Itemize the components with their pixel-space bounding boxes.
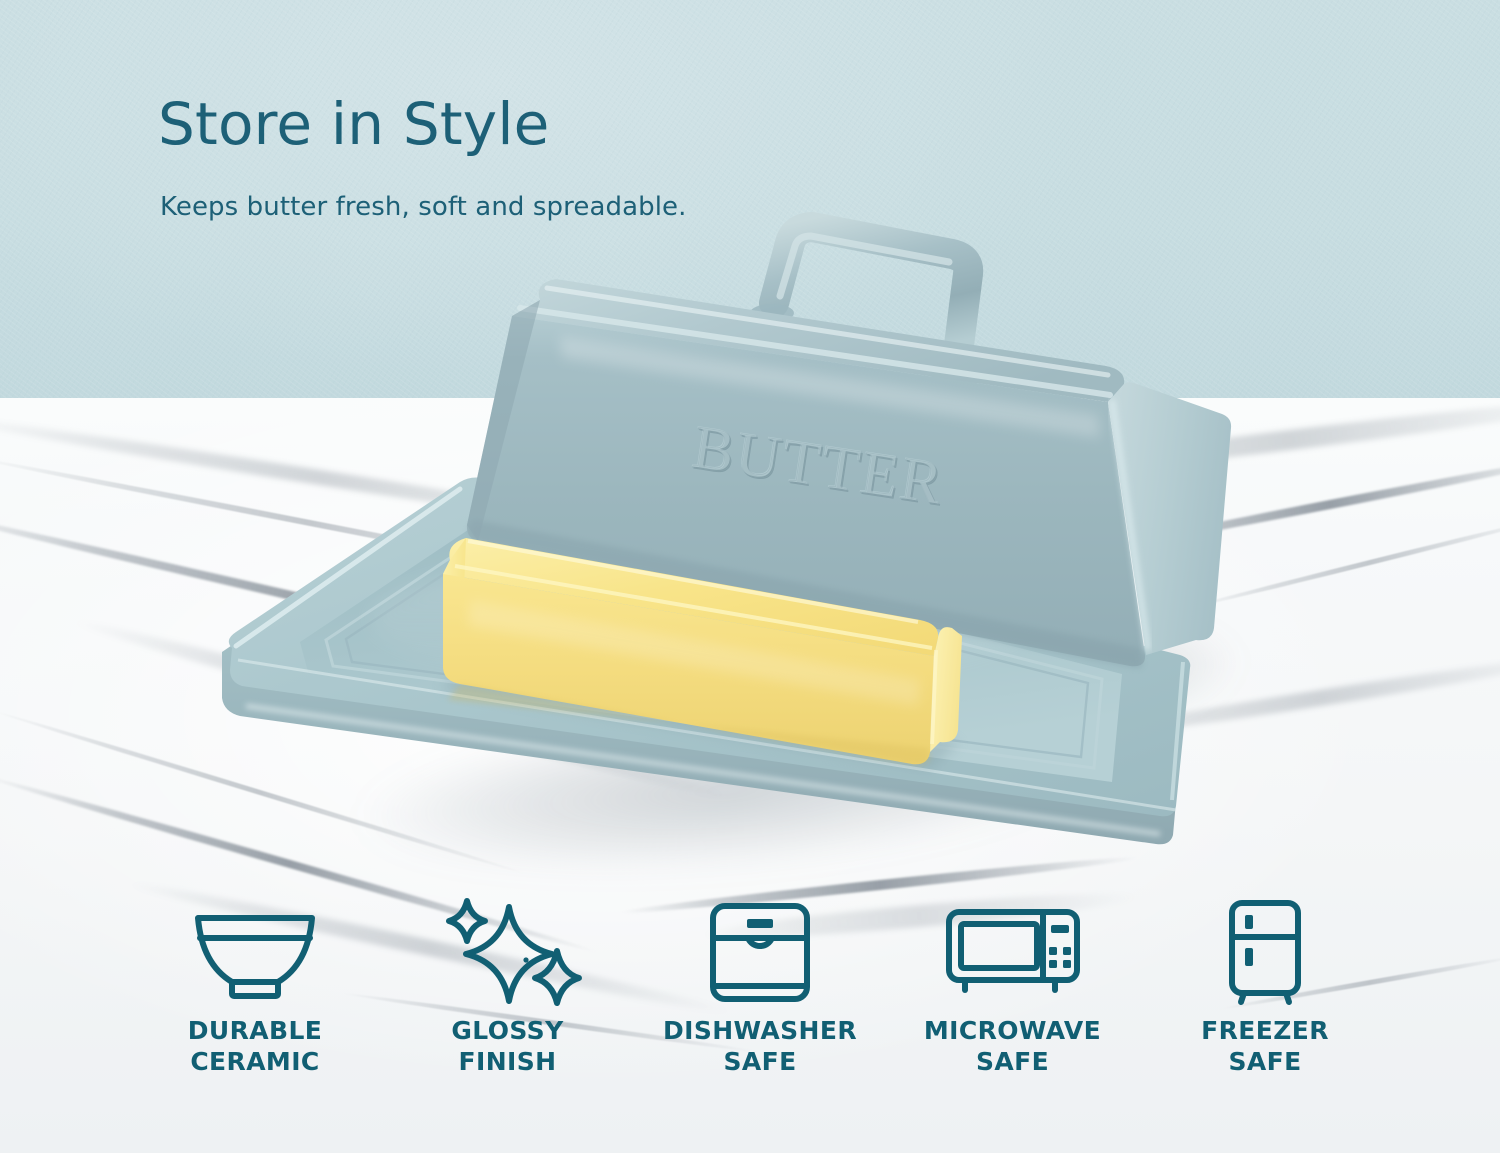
feature-label-line2: SAFE [924, 1047, 1101, 1078]
feature-label-line1: DISHWASHER [663, 1016, 857, 1047]
feature-label: FREEZER SAFE [1201, 1016, 1329, 1077]
feature-dishwasher-safe: DISHWASHER SAFE [655, 898, 865, 1077]
feature-freezer-safe: FREEZER SAFE [1160, 898, 1370, 1077]
feature-label: GLOSSY FINISH [451, 1016, 563, 1077]
dishwasher-icon [705, 898, 815, 1006]
feature-label: DURABLE CERAMIC [188, 1016, 323, 1077]
ceramic-bowl-icon [180, 898, 330, 1006]
feature-label-line1: MICROWAVE [924, 1016, 1101, 1047]
feature-durable-ceramic: DURABLE CERAMIC [150, 898, 360, 1077]
feature-label-line2: SAFE [663, 1047, 857, 1078]
feature-badges-row: DURABLE CERAMIC GLOSSY FIN [150, 898, 1370, 1118]
feature-label-line1: GLOSSY [451, 1016, 563, 1047]
microwave-icon [943, 898, 1083, 1006]
sparkle-icon [433, 898, 583, 1006]
feature-label-line2: CERAMIC [188, 1047, 323, 1078]
feature-label: DISHWASHER SAFE [663, 1016, 857, 1077]
product-lifestyle-banner: Store in Style Keeps butter fresh, soft … [0, 0, 1500, 1153]
feature-label-line2: SAFE [1201, 1047, 1329, 1078]
feature-label-line1: DURABLE [188, 1016, 323, 1047]
feature-microwave-safe: MICROWAVE SAFE [908, 898, 1118, 1077]
feature-label-line2: FINISH [451, 1047, 563, 1078]
feature-label-line1: FREEZER [1201, 1016, 1329, 1047]
feature-glossy-finish: GLOSSY FINISH [403, 898, 613, 1077]
refrigerator-icon [1220, 898, 1310, 1006]
feature-label: MICROWAVE SAFE [924, 1016, 1101, 1077]
